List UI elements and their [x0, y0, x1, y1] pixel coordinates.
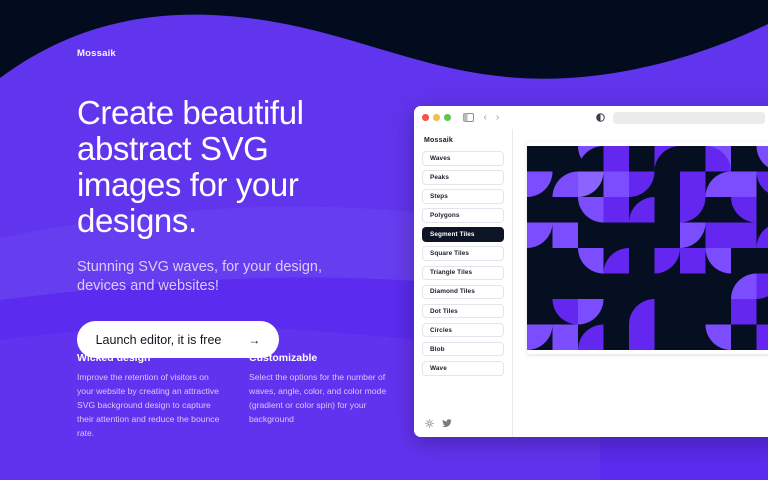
window-traffic-lights [422, 114, 451, 121]
sidebar-item-polygons[interactable]: Polygons [422, 208, 504, 223]
sidebar-item-triangle-tiles[interactable]: Triangle Tiles [422, 266, 504, 281]
sidebar-item-segment-tiles[interactable]: Segment Tiles [422, 227, 504, 242]
feature-customizable: Customizable Select the options for the … [249, 352, 395, 441]
sidebar-item-dot-tiles[interactable]: Dot Tiles [422, 304, 504, 319]
arrow-right-icon: → [248, 334, 260, 346]
sidebar-brand-label: Mossaik [424, 137, 504, 144]
feature-wicked-design: Wicked design Improve the retention of v… [77, 352, 223, 441]
feature-body: Improve the retention of visitors on you… [77, 371, 223, 441]
chevron-right-icon[interactable]: › [496, 112, 499, 123]
sidebar-item-steps[interactable]: Steps [422, 189, 504, 204]
sidebar-item-list: WavesPeaksStepsPolygonsSegment TilesSqua… [422, 151, 504, 376]
feature-title: Wicked design [77, 352, 223, 364]
minimize-button[interactable] [433, 114, 440, 121]
sidebar-toggle-icon[interactable] [463, 113, 474, 122]
sidebar-item-peaks[interactable]: Peaks [422, 170, 504, 185]
window-body: Mossaik WavesPeaksStepsPolygonsSegment T… [414, 129, 768, 437]
app-sidebar: Mossaik WavesPeaksStepsPolygonsSegment T… [414, 129, 513, 437]
sidebar-item-wave[interactable]: Wave [422, 361, 504, 376]
sidebar-footer [422, 419, 504, 437]
sidebar-item-circles[interactable]: Circles [422, 323, 504, 338]
sidebar-item-diamond-tiles[interactable]: Diamond Tiles [422, 285, 504, 300]
canvas-pane [513, 129, 768, 437]
zoom-button[interactable] [444, 114, 451, 121]
brand-logo-text: Mossaik [77, 48, 407, 59]
hero-subtitle: Stunning SVG waves, for your design, dev… [77, 258, 337, 297]
titlebar-right-group [596, 106, 765, 129]
sidebar-item-blob[interactable]: Blob [422, 342, 504, 357]
pattern-preview-canvas[interactable] [527, 142, 768, 354]
window-titlebar: ‹ › [414, 106, 768, 129]
close-button[interactable] [422, 114, 429, 121]
twitter-icon[interactable] [442, 419, 452, 428]
window-nav-chevrons: ‹ › [484, 112, 500, 123]
sun-icon[interactable] [425, 419, 434, 428]
app-window-preview: ‹ › Mossaik WavesPeaksStepsPolygonsSegme… [414, 106, 768, 437]
feature-title: Customizable [249, 352, 395, 364]
chevron-left-icon[interactable]: ‹ [484, 112, 487, 123]
address-bar[interactable] [613, 112, 765, 124]
sidebar-item-square-tiles[interactable]: Square Tiles [422, 246, 504, 261]
launch-editor-label: Launch editor, it is free [96, 333, 222, 347]
hero-section: Mossaik Create beautiful abstract SVG im… [77, 48, 407, 358]
contrast-icon[interactable] [596, 113, 605, 122]
sidebar-item-waves[interactable]: Waves [422, 151, 504, 166]
features-section: Wicked design Improve the retention of v… [77, 352, 397, 441]
page-title: Create beautiful abstract SVG images for… [77, 95, 377, 239]
feature-body: Select the options for the number of wav… [249, 371, 395, 427]
